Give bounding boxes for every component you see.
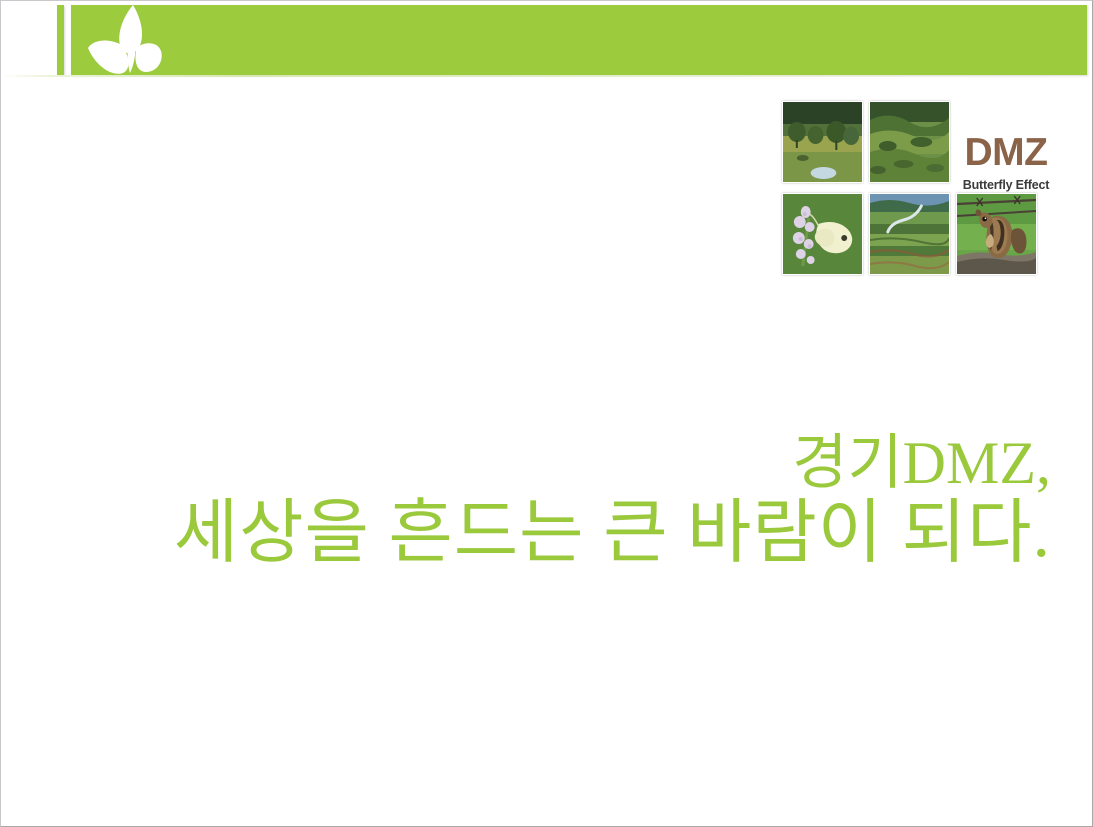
butterfly-icon	[87, 3, 179, 79]
title-reflection: 세상을 흔드는 큰 바람이 되다.	[1, 589, 1071, 699]
dmz-tagline-text: Butterfly Effect	[960, 179, 1052, 192]
dmz-brand-text: DMZ	[960, 133, 1052, 172]
photo-forest-hillside	[869, 101, 950, 183]
accent-tick	[57, 5, 64, 75]
dmz-logo-text: DMZ Butterfly Effect	[960, 133, 1052, 192]
title-line-1: 경기DMZ,	[1, 433, 1051, 494]
photo-river-valley	[869, 193, 950, 275]
photo-meadow-trees	[782, 101, 863, 183]
presentation-slide: DMZ Butterfly Effect 경기DMZ, 세상을 흔드는 큰 바람…	[0, 0, 1093, 827]
photo-butterfly-flower	[782, 193, 863, 275]
title-line-2: 세상을 흔드는 큰 바람이 되다.	[1, 498, 1051, 569]
photo-chipmunk	[956, 193, 1037, 275]
dmz-logo-block: DMZ Butterfly Effect	[782, 101, 1046, 277]
slide-title: 경기DMZ, 세상을 흔드는 큰 바람이 되다.	[1, 433, 1071, 570]
header-band	[71, 5, 1087, 75]
